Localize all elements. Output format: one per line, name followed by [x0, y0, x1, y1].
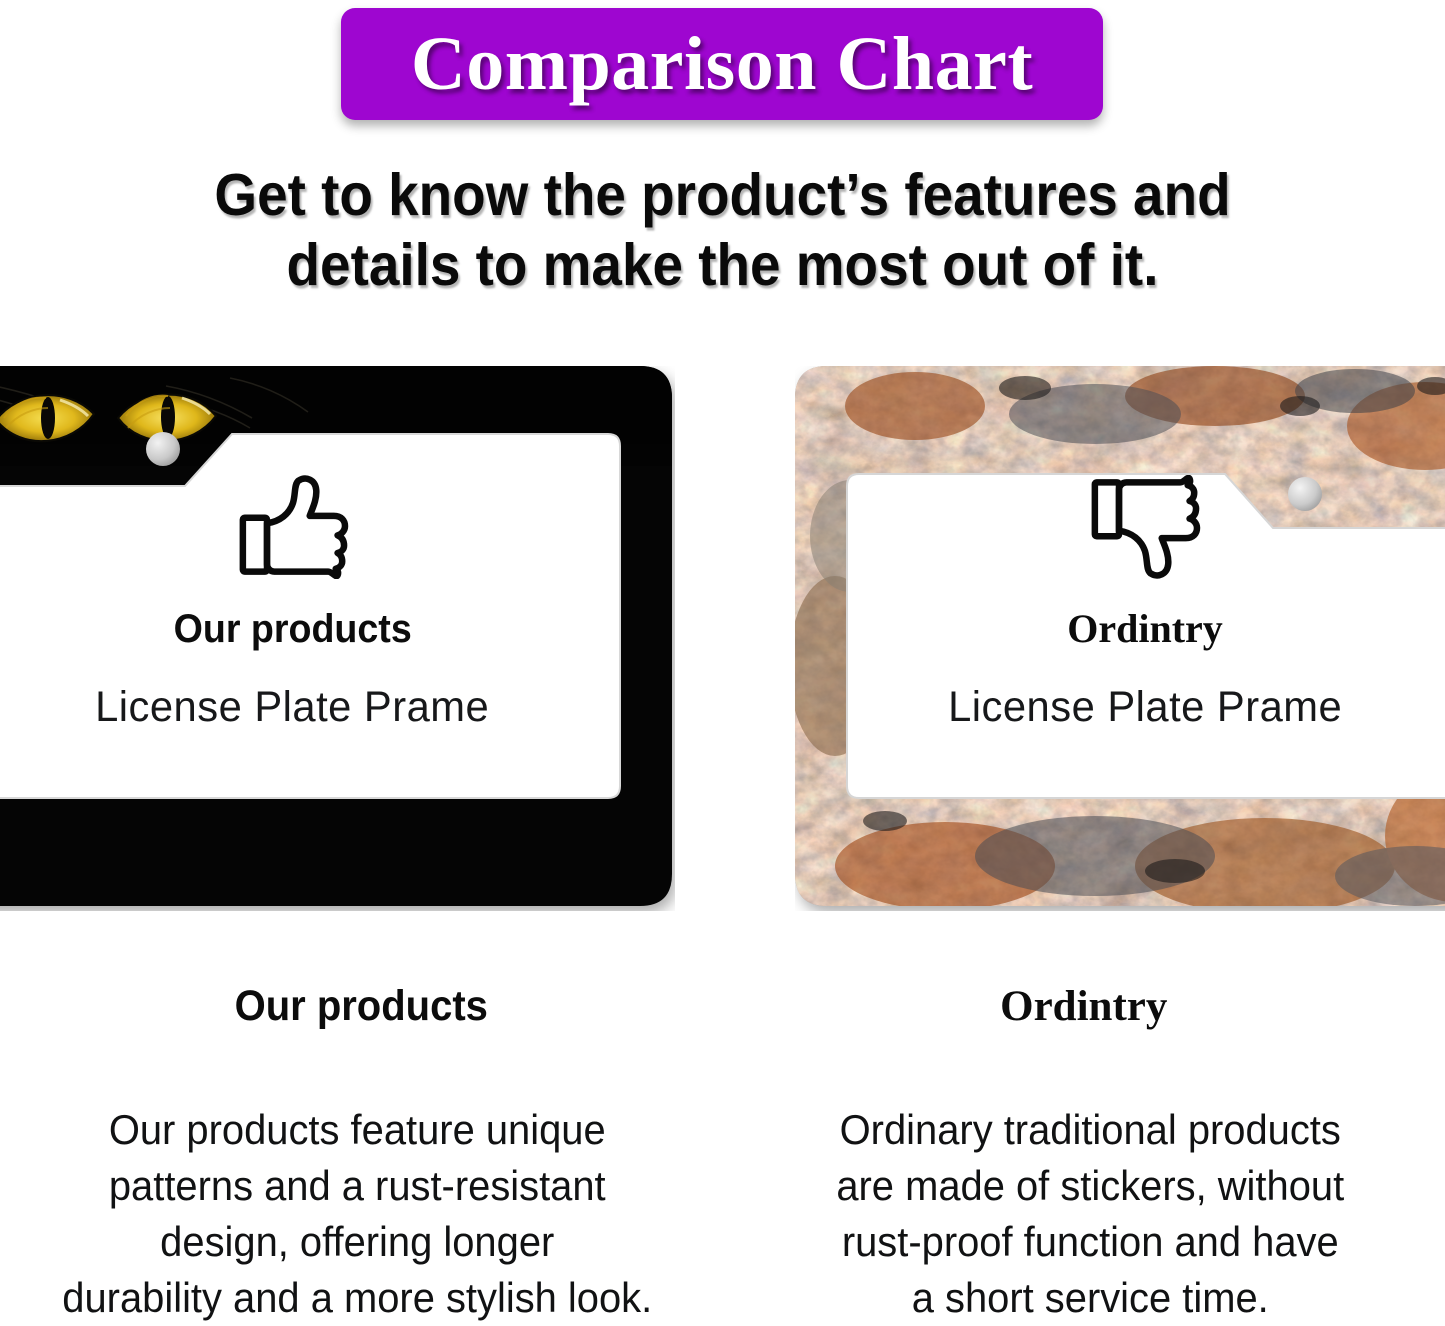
bottom-body-ours-line-1: Our products feature unique [27, 1102, 687, 1158]
screw-hole-left [146, 432, 180, 466]
subtitle-line-1: Get to know the product’s features and [51, 160, 1395, 230]
comparison-chart-title-banner: Comparison Chart [341, 8, 1103, 120]
subtitle-line-2: details to make the most out of it. [51, 230, 1395, 300]
product-label-ordinary: License Plate Prame [948, 683, 1342, 732]
bottom-heading-ordinary: Ordintry [723, 985, 1445, 1028]
bottom-body-ordinary-line-3: rust-proof function and have [769, 1214, 1410, 1270]
bottom-body-ours-line-3: design, offering longer [27, 1214, 687, 1270]
bottom-body-ordinary-line-1: Ordinary traditional products [769, 1102, 1410, 1158]
bottom-column-ours: Our products Our products feature unique… [0, 985, 723, 1315]
bottom-body-ordinary-line-2: are made of stickers, without [769, 1158, 1410, 1214]
bottom-body-ours: Our products feature unique patterns and… [10, 1102, 704, 1326]
bottom-body-ordinary: Ordinary traditional products are made o… [752, 1102, 1427, 1326]
thumbs-up-icon [237, 475, 349, 579]
page-title: Comparison Chart [411, 21, 1033, 108]
bottom-body-ours-line-2: patterns and a rust-resistant [27, 1158, 687, 1214]
brand-label-ours: Our products [173, 609, 411, 649]
subtitle-block: Get to know the product’s features and d… [51, 160, 1395, 300]
left-frame-window-content: Our products License Plate Prame [0, 475, 585, 775]
right-frame-window-content: Ordintry License Plate Prame [855, 475, 1435, 775]
bottom-comparison-columns: Our products Our products feature unique… [0, 985, 1445, 1315]
bottom-column-ordinary: Ordintry Ordinary traditional products a… [723, 985, 1445, 1315]
product-label-ours: License Plate Prame [95, 683, 489, 732]
thumbs-down-icon [1089, 475, 1201, 579]
bottom-body-ordinary-line-4: a short service time. [769, 1270, 1410, 1326]
brand-label-ordinary: Ordintry [1067, 609, 1223, 649]
bottom-heading-ours: Our products [25, 985, 697, 1028]
bottom-body-ours-line-4: durability and a more stylish look. [27, 1270, 687, 1326]
